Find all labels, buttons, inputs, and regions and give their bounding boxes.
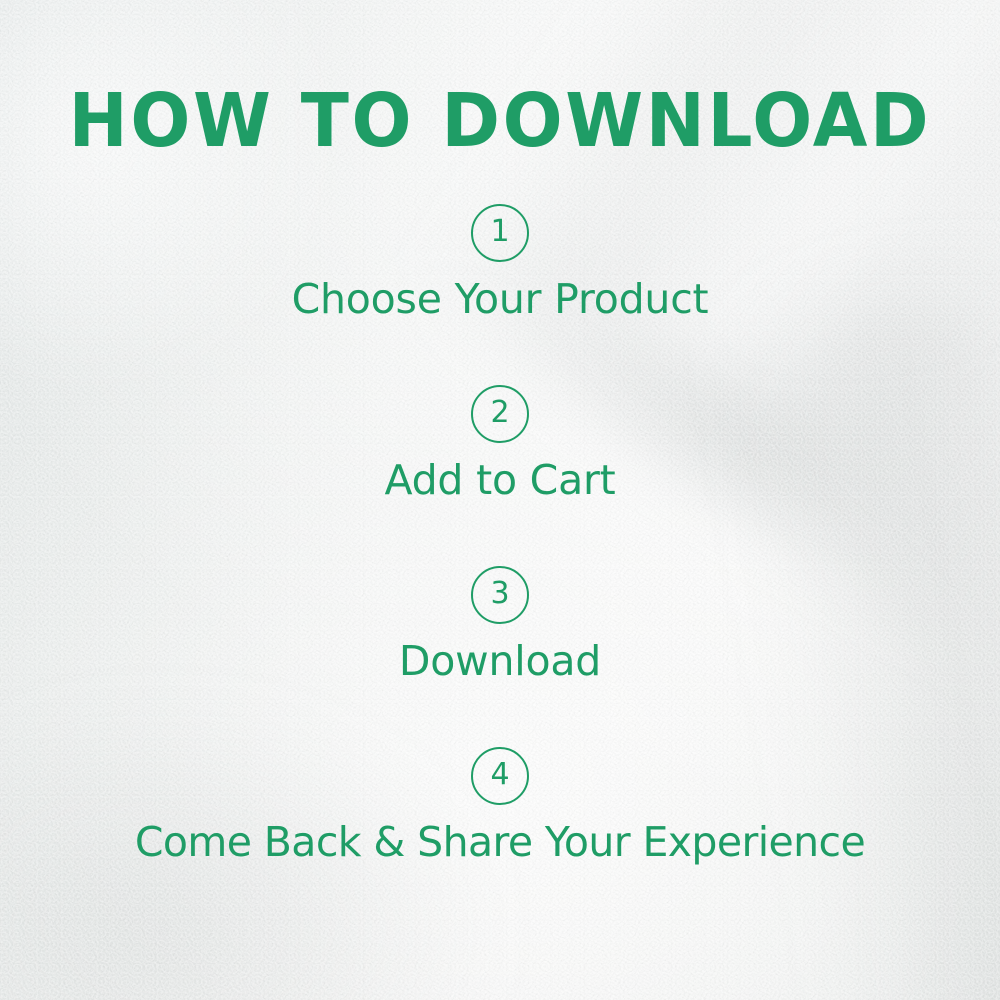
list-item: 3 Download (0, 566, 1000, 685)
step-badge-1: 1 (471, 204, 529, 262)
list-item: 1 Choose Your Product (0, 204, 1000, 323)
step-number-2: 2 (490, 398, 509, 428)
step-label-4: Come Back & Share Your Experience (135, 819, 865, 866)
step-number-4: 4 (490, 760, 509, 790)
step-number-1: 1 (490, 217, 509, 247)
step-label-3: Download (399, 638, 601, 685)
step-number-3: 3 (490, 579, 509, 609)
poster-content: HOW TO DOWNLOAD 1 Choose Your Product 2 … (0, 0, 1000, 1000)
step-badge-4: 4 (471, 747, 529, 805)
step-badge-2: 2 (471, 385, 529, 443)
step-label-1: Choose Your Product (292, 276, 709, 323)
step-badge-3: 3 (471, 566, 529, 624)
step-label-2: Add to Cart (384, 457, 615, 504)
poster-canvas: HOW TO DOWNLOAD 1 Choose Your Product 2 … (0, 0, 1000, 1000)
list-item: 2 Add to Cart (0, 385, 1000, 504)
page-title: HOW TO DOWNLOAD (0, 84, 1000, 158)
list-item: 4 Come Back & Share Your Experience (0, 747, 1000, 866)
